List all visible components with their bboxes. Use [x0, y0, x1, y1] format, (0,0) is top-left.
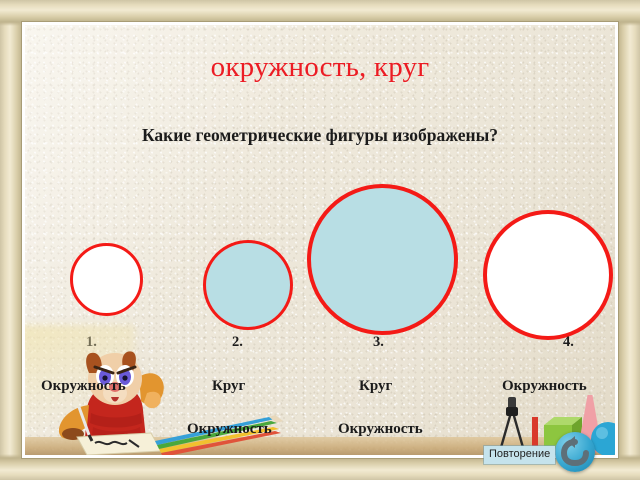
- red-pencil-icon: [532, 417, 538, 449]
- answer-label-6: Окружность: [338, 421, 423, 438]
- repeat-button-tooltip: Повторение: [484, 446, 555, 464]
- answer-label-1: Окружность: [41, 378, 126, 395]
- answer-label-5: Окружность: [187, 421, 272, 438]
- figure-2-circle: [203, 240, 293, 330]
- figure-label-2: 2.: [232, 334, 243, 351]
- figure-label-4: 4.: [563, 334, 574, 351]
- undo-arrow-icon: [555, 432, 595, 472]
- slide-canvas: окружность, круг Какие геометрические фи…: [25, 25, 615, 455]
- figure-4-circle: [483, 210, 613, 340]
- drawing-compass-icon: [500, 397, 524, 451]
- page-title: окружность, круг: [25, 52, 615, 84]
- figure-1-circle: [70, 243, 143, 316]
- figure-3-circle: [307, 184, 458, 335]
- presentation-slide: окружность, круг Какие геометрические фи…: [0, 0, 640, 480]
- wolf-body: [59, 351, 164, 440]
- answer-label-2: Круг: [212, 378, 245, 395]
- figure-label-3: 3.: [373, 334, 384, 351]
- repeat-button[interactable]: [555, 432, 595, 472]
- question-text: Какие геометрические фигуры изображены?: [25, 125, 615, 146]
- answer-label-3: Круг: [359, 378, 392, 395]
- answer-label-4: Окружность: [502, 378, 587, 395]
